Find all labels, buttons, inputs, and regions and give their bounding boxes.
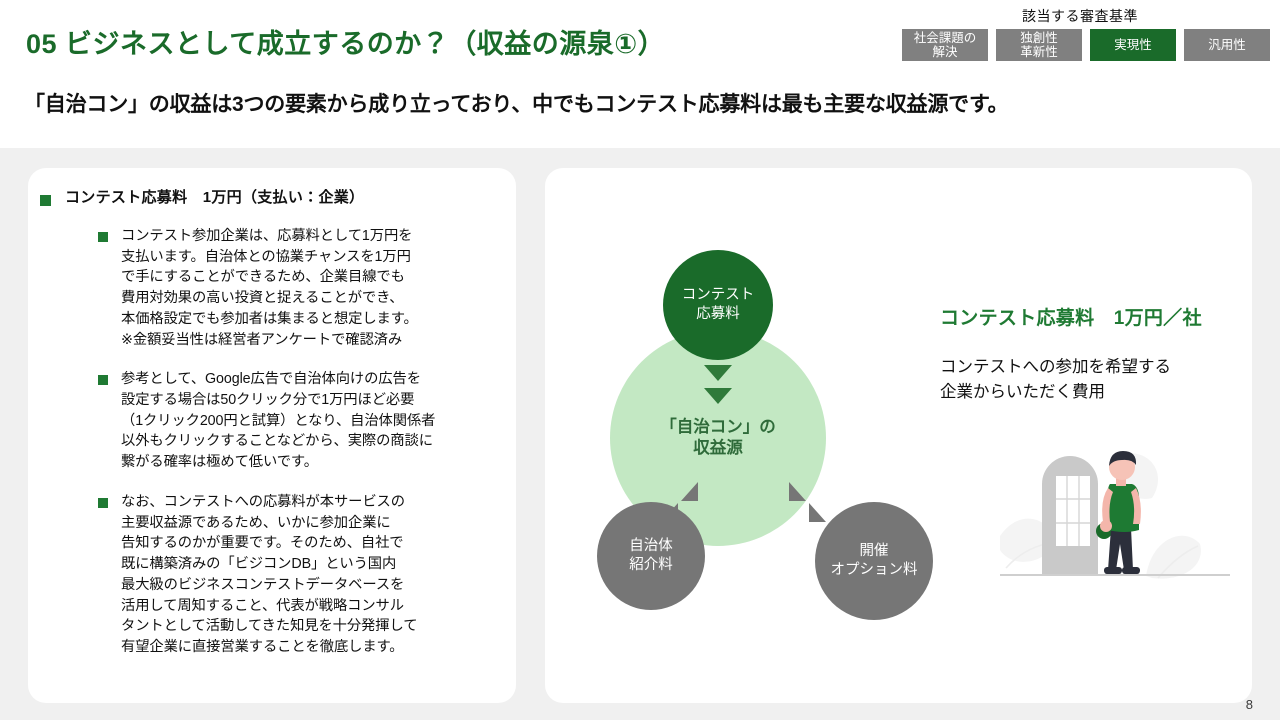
criteria-badge-line1: 社会課題の — [914, 31, 977, 45]
side-heading: コンテスト応募料 1万円／社 — [940, 303, 1202, 330]
arrow-down-icon — [704, 388, 732, 404]
arrow-upleft-icon — [809, 503, 826, 522]
list-item: なお、コンテストへの応募料が本サービスの 主要収益源であるため、いかに参加企業に… — [98, 492, 498, 658]
slide-header: 05 ビジネスとして成立するのか？（収益の源泉①） 該当する審査基準 社会課題の… — [0, 0, 1280, 148]
diagram-circle-municipality-fee: 自治体 紹介料 — [597, 502, 705, 610]
criteria-badge-social[interactable]: 社会課題の 解決 — [902, 29, 988, 61]
bullet-square-icon — [98, 498, 108, 508]
criteria-badge-versatility[interactable]: 汎用性 — [1184, 29, 1270, 61]
arrow-down-icon — [704, 365, 732, 381]
criteria-badge-line1: 独創性 — [1020, 31, 1058, 45]
criteria-badge-feasibility[interactable]: 実現性 — [1090, 29, 1176, 61]
criteria-badge-line1: 実現性 — [1114, 38, 1152, 52]
diagram-right-label: 開催 オプション料 — [827, 542, 922, 580]
list-item: コンテスト参加企業は、応募料として1万円を 支払います。自治体との協業チャンスを… — [98, 226, 498, 350]
criteria-caption: 該当する審査基準 — [890, 6, 1270, 26]
bullet-square-icon — [98, 375, 108, 385]
diagram-center-label: 「自治コン」の 収益源 — [656, 417, 780, 460]
diagram-circle-contest-fee: コンテスト 応募料 — [663, 250, 773, 360]
bullet-list: コンテスト参加企業は、応募料として1万円を 支払います。自治体との協業チャンスを… — [98, 226, 498, 677]
diagram-left-label: 自治体 紹介料 — [625, 537, 677, 575]
bullet-heading-text: コンテスト応募料 1万円（支払い：企業） — [65, 188, 364, 208]
bullet-square-icon — [40, 195, 51, 206]
arrow-upleft-icon — [789, 482, 806, 501]
arrow-upright-icon — [681, 482, 698, 501]
bullet-heading: コンテスト応募料 1万円（支払い：企業） — [40, 188, 480, 208]
diagram-circle-option-fee: 開催 オプション料 — [815, 502, 933, 620]
criteria-badge-line2: 解決 — [914, 45, 977, 59]
criteria-badge-line2: 革新性 — [1020, 45, 1058, 59]
criteria-badges: 社会課題の 解決 独創性 革新性 実現性 汎用性 — [890, 29, 1270, 61]
list-item-text: なお、コンテストへの応募料が本サービスの 主要収益源であるため、いかに参加企業に… — [121, 492, 417, 658]
slide-subtitle: 「自治コン」の収益は3つの要素から成り立っており、中でもコンテスト応募料は最も主… — [24, 88, 1008, 118]
criteria-badge-line1: 汎用性 — [1208, 38, 1246, 52]
criteria-badge-originality[interactable]: 独創性 革新性 — [996, 29, 1082, 61]
diagram-top-label: コンテスト 応募料 — [678, 286, 759, 324]
bullet-square-icon — [98, 232, 108, 242]
person-at-door-illustration — [1000, 418, 1230, 618]
arrow-upright-icon — [661, 503, 678, 522]
criteria-group: 該当する審査基準 社会課題の 解決 独創性 革新性 実現性 — [890, 6, 1270, 61]
list-item-text: 参考として、Google広告で自治体向けの広告を 設定する場合は50クリック分で… — [121, 369, 435, 473]
revenue-source-diagram: 「自治コン」の 収益源 コンテスト 応募料 自治体 紹介料 開催 オプション料 — [575, 230, 945, 620]
page-title: 05 ビジネスとして成立するのか？（収益の源泉①） — [26, 22, 665, 61]
side-body-text: コンテストへの参加を希望する 企業からいただく費用 — [940, 355, 1171, 405]
list-item: 参考として、Google広告で自治体向けの広告を 設定する場合は50クリック分で… — [98, 369, 498, 473]
page-number: 8 — [1246, 697, 1253, 712]
list-item-text: コンテスト参加企業は、応募料として1万円を 支払います。自治体との協業チャンスを… — [121, 226, 418, 350]
